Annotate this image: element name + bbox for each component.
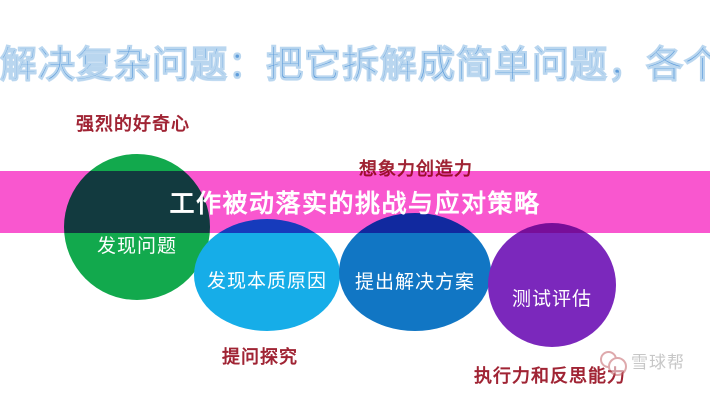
bubble-discover-problem-label: 发现问题 [97,231,177,258]
bubble-test-evaluate-label: 测试评估 [512,284,592,311]
poster-canvas: 解决复杂问题：把它拆解成简单问题，各个击破 强烈的好奇心 想象力创造力 发现问题… [0,0,710,400]
bubble-propose-solution-label: 提出解决方案 [355,267,475,294]
page-title: 解决复杂问题：把它拆解成简单问题，各个击破 [0,34,710,88]
annotation-inquiry: 提问探究 [222,343,298,369]
bubble-test-evaluate[interactable]: 测试评估 [488,223,616,347]
watermark: 雪球帮 [600,348,685,373]
watermark-text: 雪球帮 [631,348,685,373]
bubble-find-root-cause[interactable]: 发现本质原因 [194,219,340,331]
annotation-curiosity: 强烈的好奇心 [76,110,190,136]
snowball-logo-icon [600,349,626,373]
overlay-banner-title: 工作被动落实的挑战与应对策略 [0,171,710,233]
bubble-find-root-cause-label: 发现本质原因 [207,266,327,293]
